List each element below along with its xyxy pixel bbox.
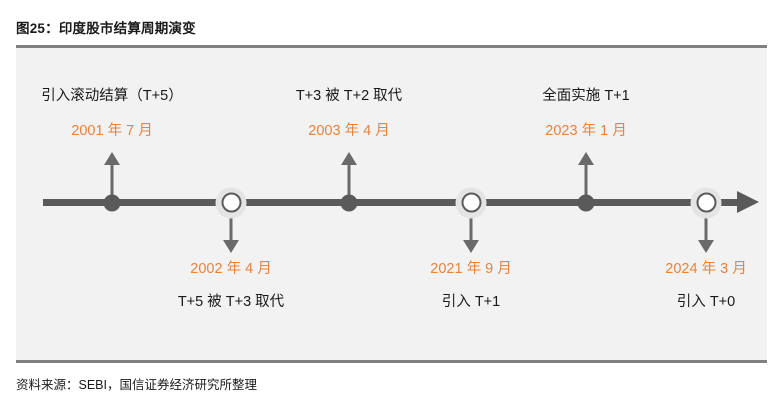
filled-dot-icon	[578, 194, 595, 211]
event-title-6: 引入 T+0	[665, 294, 746, 311]
page-title: 图25：印度股市结算周期演变	[16, 17, 196, 37]
event-label-6: 2024 年 3 月 引入 T+0	[665, 261, 746, 312]
connector-arrow-down-icon-event-6	[698, 240, 714, 253]
event-title-1: 引入滚动结算（T+5）	[41, 88, 182, 105]
event-title-2: T+5 被 T+3 取代	[178, 294, 284, 311]
event-date-3: 2003 年 4 月	[296, 123, 402, 140]
event-label-1: 引入滚动结算（T+5） 2001 年 7 月	[41, 88, 182, 141]
event-date-5: 2023 年 1 月	[542, 123, 629, 140]
event-date-1: 2001 年 7 月	[41, 123, 182, 140]
timeline-marker-event-6[interactable]	[691, 187, 722, 218]
timeline-marker-event-1[interactable]	[104, 194, 121, 211]
timeline-marker-event-3[interactable]	[341, 194, 358, 211]
timeline-marker-event-5[interactable]	[578, 194, 595, 211]
timeline-axis-line	[43, 199, 743, 206]
hollow-circle-icon	[456, 187, 487, 218]
timeline-marker-event-2[interactable]	[216, 187, 247, 218]
timeline-chart-panel: 引入滚动结算（T+5） 2001 年 7 月 2002 年 4 月 T+5 被 …	[16, 48, 767, 360]
event-date-6: 2024 年 3 月	[665, 261, 746, 278]
source-note: 资料来源：SEBI，国信证券经济研究所整理	[16, 374, 257, 393]
timeline-marker-event-4[interactable]	[456, 187, 487, 218]
connector-arrow-down-icon-event-2	[223, 240, 239, 253]
hollow-circle-icon	[216, 187, 247, 218]
divider-bottom	[16, 360, 767, 363]
event-title-4: 引入 T+1	[430, 294, 511, 311]
connector-arrow-up-icon-event-1	[104, 152, 120, 165]
connector-arrow-down-icon-event-4	[463, 240, 479, 253]
filled-dot-icon	[104, 194, 121, 211]
event-title-3: T+3 被 T+2 取代	[296, 88, 402, 105]
event-label-3: T+3 被 T+2 取代 2003 年 4 月	[296, 88, 402, 141]
hollow-circle-inner	[696, 193, 716, 213]
event-label-5: 全面实施 T+1 2023 年 1 月	[542, 88, 629, 141]
event-label-4: 2021 年 9 月 引入 T+1	[430, 261, 511, 312]
event-title-5: 全面实施 T+1	[542, 88, 629, 105]
event-date-2: 2002 年 4 月	[178, 261, 284, 278]
connector-arrow-up-icon-event-3	[341, 152, 357, 165]
connector-arrow-up-icon-event-5	[578, 152, 594, 165]
hollow-circle-inner	[221, 193, 241, 213]
filled-dot-icon	[341, 194, 358, 211]
event-date-4: 2021 年 9 月	[430, 261, 511, 278]
event-label-2: 2002 年 4 月 T+5 被 T+3 取代	[178, 261, 284, 312]
hollow-circle-icon	[691, 187, 722, 218]
timeline-axis-arrow-icon	[737, 191, 759, 213]
hollow-circle-inner	[461, 193, 481, 213]
